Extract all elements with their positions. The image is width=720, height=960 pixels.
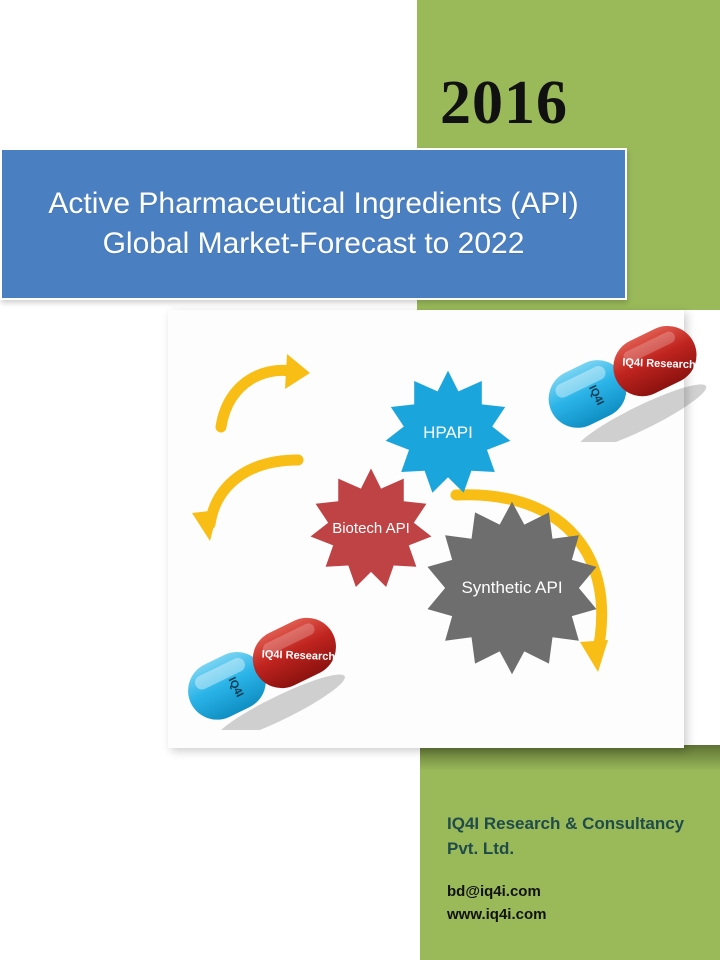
gear-label-synthetic: Synthetic API	[461, 578, 562, 598]
pill-capsule-icon: IQ4I IQ4I Research	[537, 318, 709, 442]
pill-capsule-icon: IQ4I IQ4I Research	[176, 612, 348, 730]
capsule-bottom-left: IQ4I IQ4I Research	[176, 612, 348, 730]
gear-label-biotech: Biotech API	[332, 520, 410, 537]
page-title: Active Pharmaceutical Ingredients (API) …	[2, 184, 625, 263]
cover-title-band: Active Pharmaceutical Ingredients (API) …	[0, 148, 627, 300]
gear-synthetic: Synthetic API	[424, 500, 600, 676]
cover-year: 2016	[440, 72, 620, 134]
arrow-up-right-icon	[221, 354, 310, 427]
contact-email[interactable]: bd@iq4i.com	[447, 881, 707, 904]
gear-label-hpapi: HPAPI	[423, 423, 473, 443]
company-name: IQ4I Research & Consultancy Pvt. Ltd.	[447, 812, 707, 861]
capsule-top-right: IQ4I IQ4I Research	[537, 318, 709, 442]
svg-text:IQ4I Research: IQ4I Research	[262, 649, 336, 664]
report-cover-page: 2016 Active Pharmaceutical Ingredients (…	[0, 0, 720, 960]
arrow-down-left-icon	[192, 460, 298, 541]
svg-text:IQ4I Research: IQ4I Research	[622, 357, 696, 372]
contact-block: IQ4I Research & Consultancy Pvt. Ltd. bd…	[447, 812, 707, 926]
gear-biotech: Biotech API	[308, 466, 434, 592]
contact-website[interactable]: www.iq4i.com	[447, 904, 707, 927]
